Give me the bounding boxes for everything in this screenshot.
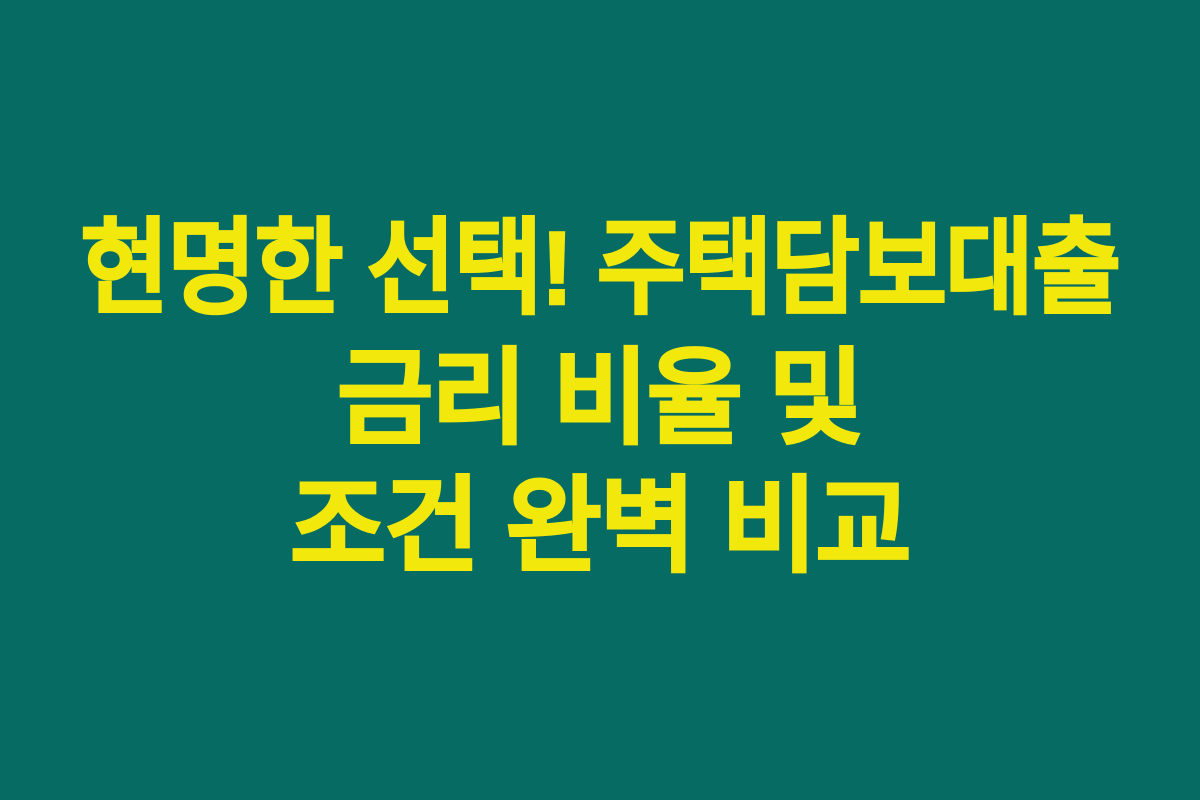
headline-line-1: 현명한 선택! 주택담보대출 [45,217,1155,321]
banner-canvas: 현명한 선택! 주택담보대출 금리 비율 및 조건 완벽 비교 [0,0,1200,800]
headline-block: 현명한 선택! 주택담보대출 금리 비율 및 조건 완벽 비교 [0,217,1200,579]
headline-line-2: 금리 비율 및 [0,347,1200,451]
headline-line-3: 조건 완벽 비교 [0,475,1200,579]
